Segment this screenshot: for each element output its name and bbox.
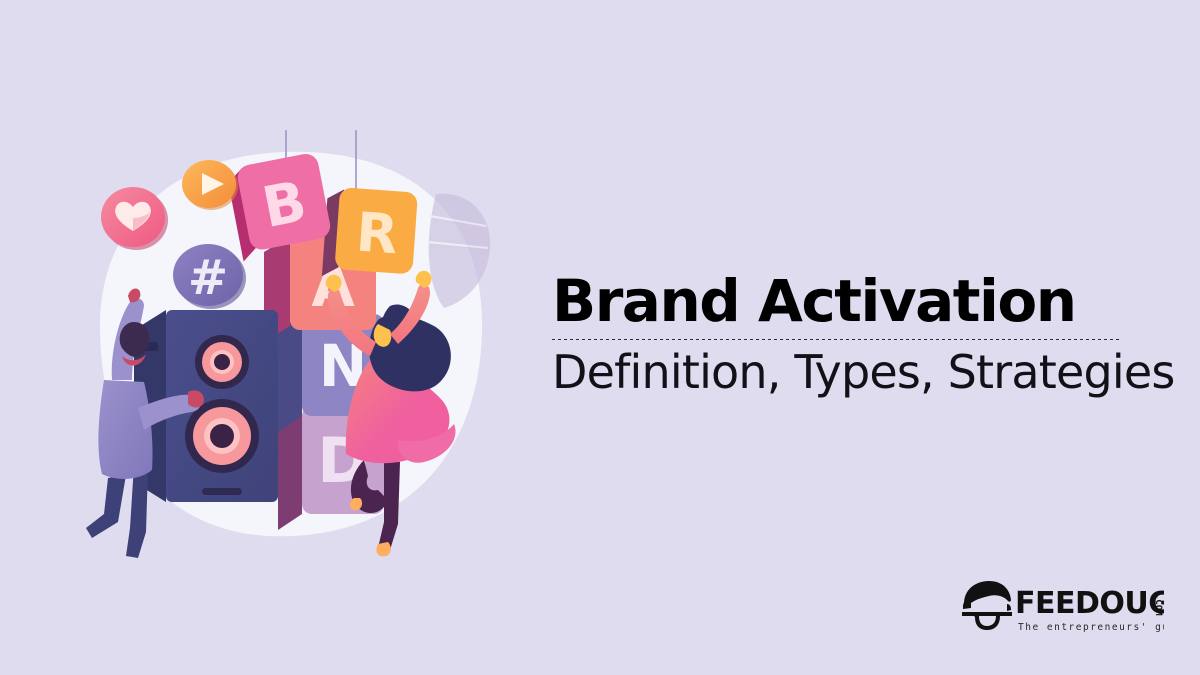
poster-canvas: D N A R — [0, 0, 1200, 675]
page-subtitle: Definition, Types, Strategies — [552, 346, 1132, 399]
logo-domain: .COM — [1153, 594, 1163, 616]
block-R: R — [322, 186, 418, 282]
svg-text:R: R — [354, 201, 400, 267]
logo-wordmark: FEEDOUGH — [1015, 586, 1164, 621]
feedough-logo[interactable]: FEEDOUGH .COM The entrepreneurs' guide — [958, 578, 1164, 638]
decorative-shape — [428, 194, 490, 308]
face-logo-icon — [962, 581, 1012, 630]
brand-activation-illustration: D N A R — [78, 130, 498, 560]
title-divider — [552, 339, 1122, 340]
svg-text:#: # — [188, 250, 228, 306]
page-title: Brand Activation — [552, 272, 1132, 331]
logo-tagline: The entrepreneurs' guide — [1018, 622, 1164, 633]
title-block: Brand Activation Definition, Types, Stra… — [552, 272, 1132, 399]
